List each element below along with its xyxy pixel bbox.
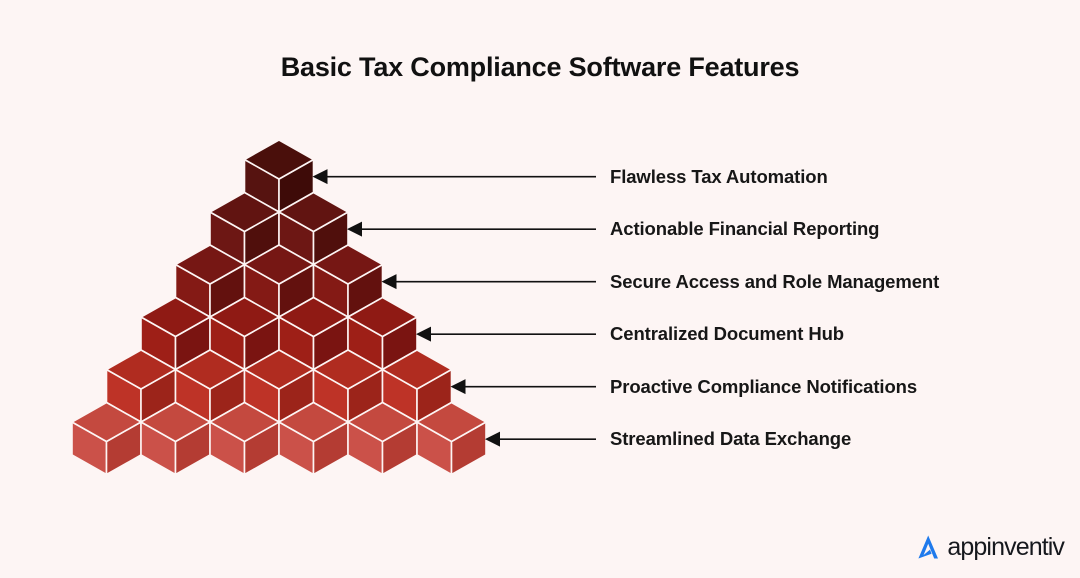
appinventiv-mark-icon (911, 530, 945, 564)
leader-line-3 (382, 274, 597, 289)
feature-label-6: Streamlined Data Exchange (610, 428, 851, 450)
cube-stack (72, 140, 486, 475)
cube-row-5 (107, 350, 452, 422)
leader-arrowhead-icon (382, 274, 397, 289)
appinventiv-logo: appinventiv (911, 530, 1064, 564)
leader-line-5 (451, 379, 597, 394)
feature-label-5: Proactive Compliance Notifications (610, 376, 917, 398)
leader-arrowhead-icon (347, 222, 362, 237)
leader-arrowhead-icon (485, 432, 500, 447)
feature-label-3: Secure Access and Role Management (610, 271, 939, 293)
feature-label-1: Flawless Tax Automation (610, 166, 828, 188)
brand-wordmark: appinventiv (947, 533, 1064, 562)
leader-line-2 (347, 222, 596, 237)
leader-line-1 (313, 169, 597, 184)
feature-label-2: Actionable Financial Reporting (610, 218, 879, 240)
cube-row-3 (176, 245, 383, 317)
leader-arrowhead-icon (313, 169, 328, 184)
leader-arrowhead-icon (451, 379, 466, 394)
infographic-canvas: Basic Tax Compliance Software Features F… (0, 0, 1080, 578)
leader-arrowhead-icon (416, 327, 431, 342)
leader-line-6 (485, 432, 596, 447)
leader-line-4 (416, 327, 596, 342)
feature-label-4: Centralized Document Hub (610, 323, 844, 345)
